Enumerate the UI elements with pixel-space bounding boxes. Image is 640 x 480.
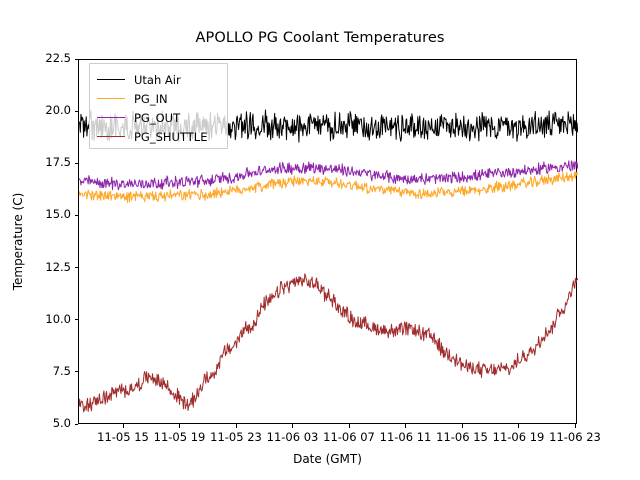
legend-line-swatch [97, 98, 125, 99]
legend-item-label: PG_IN [134, 92, 168, 106]
legend-item-pg-out[interactable]: PG_OUT [90, 108, 227, 127]
y-tick-label: 7.5 [0, 366, 71, 378]
y-tick-label: 22.5 [0, 53, 71, 65]
legend-item-label: PG_OUT [134, 111, 180, 125]
y-tick-label: 15.0 [0, 209, 71, 221]
legend-item-utah-air[interactable]: Utah Air [90, 70, 227, 89]
legend-line-swatch [97, 79, 125, 80]
series-line-pg-in [79, 172, 578, 203]
legend-item-label: Utah Air [134, 73, 181, 87]
chart-legend: Utah AirPG_INPG_OUTPG_SHUTTLE [89, 63, 228, 149]
y-tick-label: 10.0 [0, 314, 71, 326]
series-line-pg-shuttle [79, 274, 578, 412]
legend-line-swatch [97, 117, 125, 118]
y-tick-label: 5.0 [0, 418, 71, 430]
y-tick-label: 17.5 [0, 157, 71, 169]
x-axis-label: Date (GMT) [78, 452, 577, 466]
y-tick-label: 12.5 [0, 262, 71, 274]
page-title: APOLLO PG Coolant Temperatures [0, 30, 640, 46]
series-line-pg-out [79, 161, 578, 190]
legend-item-pg-shuttle[interactable]: PG_SHUTTLE [90, 127, 227, 146]
x-tick-label: 11-06 23 [515, 431, 635, 444]
y-tick-label: 20.0 [0, 105, 71, 117]
legend-item-label: PG_SHUTTLE [134, 130, 207, 144]
legend-item-pg-in[interactable]: PG_IN [90, 89, 227, 108]
figure-canvas: APOLLO PG Coolant Temperatures Temperatu… [0, 0, 640, 480]
legend-line-swatch [97, 136, 125, 137]
